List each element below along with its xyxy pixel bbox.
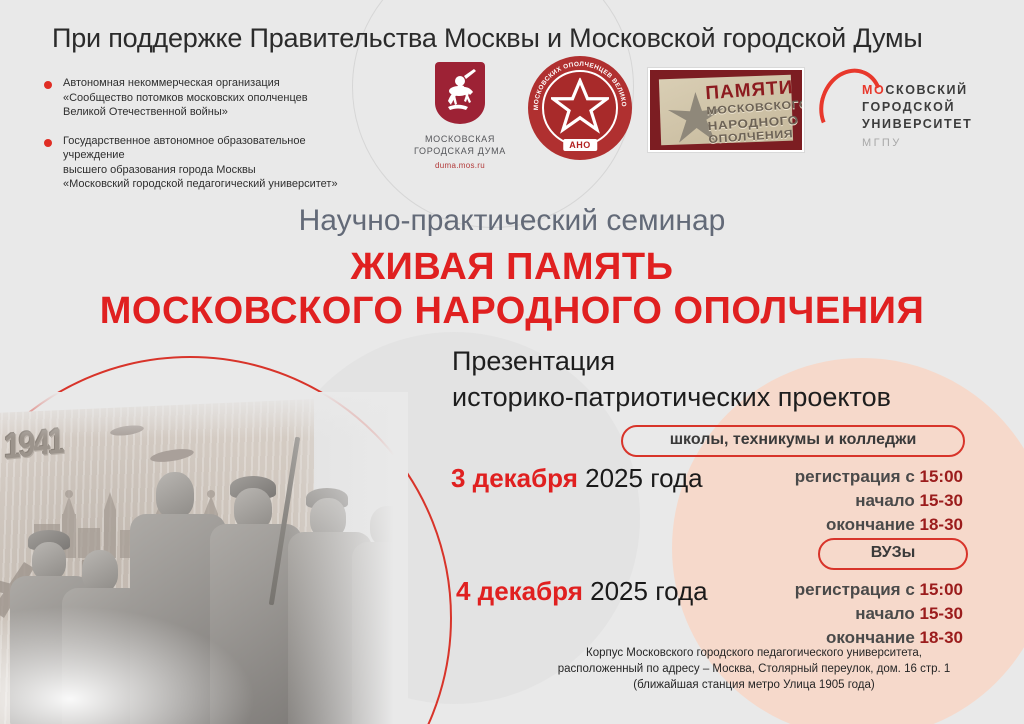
mgpu-logo-line3: УНИВЕРСИТЕТ	[862, 116, 972, 133]
venue-address-line1: Корпус Московского городского педагогиче…	[524, 645, 984, 661]
organizer-line: «Московский городской педагогический уни…	[63, 177, 364, 192]
session-date-1-day: 3 декабря	[451, 463, 578, 493]
session-date-2-day: 4 декабря	[456, 576, 583, 606]
session-schedule-1: регистрация с 15:00 начало 15-30 окончан…	[713, 465, 963, 537]
mgpu-logo-line1: МОСКОВСКИЙ	[862, 82, 972, 99]
schedule-value: 15:00	[920, 467, 963, 486]
schedule-value: 15-30	[920, 491, 963, 510]
venue-address-line3: (ближайшая станция метро Улица 1905 года…	[524, 677, 984, 693]
schedule-value: 15-30	[920, 604, 963, 623]
schedule-row: окончание 18-30	[713, 513, 963, 537]
schedule-label: регистрация с	[795, 580, 915, 599]
mgpu-logo-abbr: МГПУ	[862, 135, 972, 152]
schedule-label: начало	[855, 604, 915, 623]
organizer-line: Государственное автономное образовательн…	[63, 134, 364, 163]
support-headline: При поддержке Правительства Москвы и Мос…	[52, 23, 923, 54]
schedule-label: регистрация с	[795, 467, 915, 486]
duma-logo-url: duma.mos.ru	[398, 161, 522, 170]
poster-root: 1941	[0, 0, 1024, 724]
session-date-2-year: 2025 года	[590, 576, 708, 606]
event-title-line1: ЖИВАЯ ПАМЯТЬ	[0, 246, 1024, 289]
presentation-line2: историко-патриотических проектов	[452, 379, 891, 415]
presentation-line1: Презентация	[452, 343, 891, 379]
session-schedule-2: регистрация с 15:00 начало 15-30 окончан…	[713, 578, 963, 650]
schedule-row: регистрация с 15:00	[713, 465, 963, 489]
moscow-city-duma-logo: МОСКОВСКАЯ ГОРОДСКАЯ ДУМА duma.mos.ru	[398, 62, 522, 170]
mgpu-logo-line1-red: МО	[862, 83, 885, 97]
schedule-label: начало	[855, 491, 915, 510]
moscow-militia-monument-photo: 1941	[0, 392, 408, 724]
schedule-row: начало 15-30	[713, 489, 963, 513]
presentation-heading: Презентация историко-патриотических прое…	[452, 343, 891, 415]
schedule-row: регистрация с 15:00	[713, 578, 963, 602]
mgpu-logo-line2: ГОРОДСКОЙ	[862, 99, 972, 116]
organizer-list: Автономная некоммерческая организация «С…	[44, 76, 364, 206]
organizer-item: Государственное автономное образовательн…	[44, 134, 364, 192]
venue-address-line2: расположенный по адресу – Москва, Столяр…	[524, 661, 984, 677]
schedule-value: 18-30	[920, 515, 963, 534]
venue-address: Корпус Московского городского педагогиче…	[524, 645, 984, 693]
event-title-line2: МОСКОВСКОГО НАРОДНОГО ОПОЛЧЕНИЯ	[0, 290, 1024, 333]
bullet-icon	[44, 139, 52, 147]
duma-logo-line2: ГОРОДСКАЯ ДУМА	[398, 145, 522, 157]
session-date-1: 3 декабря 2025 года	[451, 463, 703, 494]
schedule-value: 15:00	[920, 580, 963, 599]
ano-badge-label: АНО	[563, 139, 597, 151]
pamyati-plaque-logo: ПАМЯТИ МОСКОВСКОГО НАРОДНОГО ОПОЛЧЕНИЯ	[648, 68, 804, 152]
monument-smoke-overlay	[0, 594, 280, 724]
ano-seal-logo: СООБЩЕСТВО ПОТОМКОВ МОСКОВСКИХ ОПОЛЧЕНЦЕ…	[528, 56, 632, 160]
schedule-row: начало 15-30	[713, 602, 963, 626]
audience-pill-vuzy: ВУЗы	[818, 538, 968, 570]
mgpu-logo-line1-rest: СКОВСКИЙ	[885, 83, 967, 97]
organizer-item: Автономная некоммерческая организация «С…	[44, 76, 364, 120]
organizer-line: «Сообщество потомков московских ополченц…	[63, 91, 364, 106]
audience-pill-schools: школы, техникумы и колледжи	[621, 425, 965, 457]
organizer-line: высшего образования города Москвы	[63, 163, 364, 178]
session-date-2: 4 декабря 2025 года	[456, 576, 708, 607]
saint-george-shield-icon	[435, 62, 485, 124]
monument-fade-right	[288, 392, 408, 724]
organizer-line: Великой Отечественной войны»	[63, 105, 364, 120]
schedule-label: окончание	[826, 515, 915, 534]
pamyati-plate: ПАМЯТИ МОСКОВСКОГО НАРОДНОГО ОПОЛЧЕНИЯ	[659, 75, 793, 146]
seminar-subtitle: Научно-практический семинар	[0, 204, 1024, 238]
duma-logo-line1: МОСКОВСКАЯ	[398, 133, 522, 145]
session-date-1-year: 2025 года	[585, 463, 703, 493]
bullet-icon	[44, 81, 52, 89]
red-star-icon	[551, 78, 609, 134]
organizer-line: Автономная некоммерческая организация	[63, 76, 364, 91]
monument-fade-top	[0, 392, 408, 438]
